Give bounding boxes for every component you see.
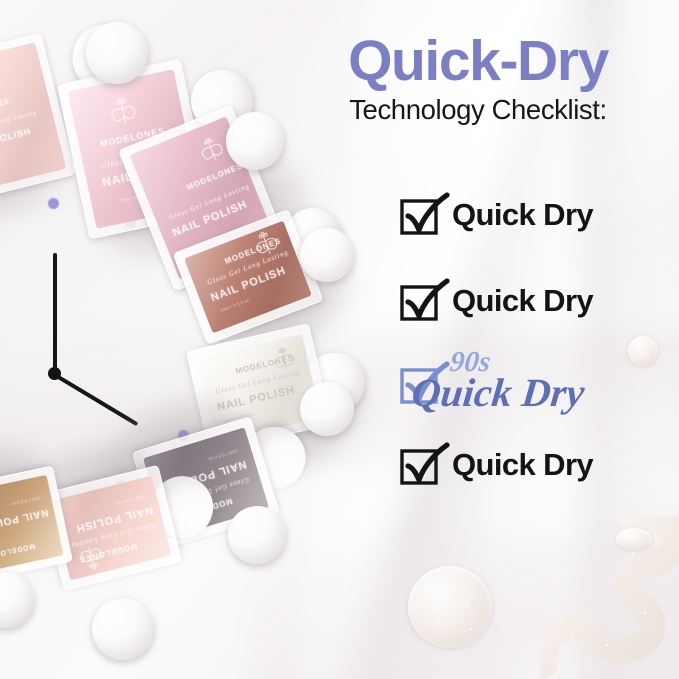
page-title: Quick-Dry (285, 34, 671, 89)
checklist-item-4-label: Quick Dry (452, 447, 593, 483)
checklist-item-3-script-block: 90s Quick Dry (404, 351, 584, 412)
checklist-item-1-label: Quick Dry (452, 197, 593, 233)
checkbox-1[interactable] (400, 191, 448, 239)
glitter-polish-swatch (616, 528, 652, 550)
checklist-item-2-label: Quick Dry (452, 283, 593, 319)
glitter-polish-swatch (540, 516, 679, 679)
bottle-cap (300, 382, 354, 436)
fabric-crease (250, 540, 679, 679)
bottle-cap (300, 228, 354, 282)
bottle-cap (228, 506, 286, 564)
clock-minute-hand (53, 253, 57, 375)
checklist-item-1[interactable]: Quick Dry (400, 186, 675, 244)
checklist: Quick Dry Quick Dry 90s Quick D (400, 186, 675, 494)
checkbox-4[interactable] (400, 441, 448, 489)
bottle-cap (86, 22, 148, 84)
promo-image-canvas: MODELONES Gloss Gel Long Lasting NAIL PO… (0, 0, 679, 679)
bottle-cap (92, 598, 154, 660)
checkbox-2[interactable] (400, 277, 448, 325)
checklist-item-3-label-bottom: Quick Dry (410, 375, 586, 412)
page-subtitle: Technology Checklist: (285, 95, 671, 125)
checklist-item-4[interactable]: Quick Dry (400, 436, 675, 494)
checklist-item-2[interactable]: Quick Dry (400, 272, 675, 330)
clock-center-pivot (48, 367, 61, 380)
bottle-cap (0, 572, 34, 628)
checklist-item-3[interactable]: 90s Quick Dry (400, 344, 675, 414)
glitter-polish-swatch (408, 566, 492, 648)
headline-block: Quick-Dry Technology Checklist: (285, 34, 671, 125)
bottle-cap (226, 112, 284, 170)
